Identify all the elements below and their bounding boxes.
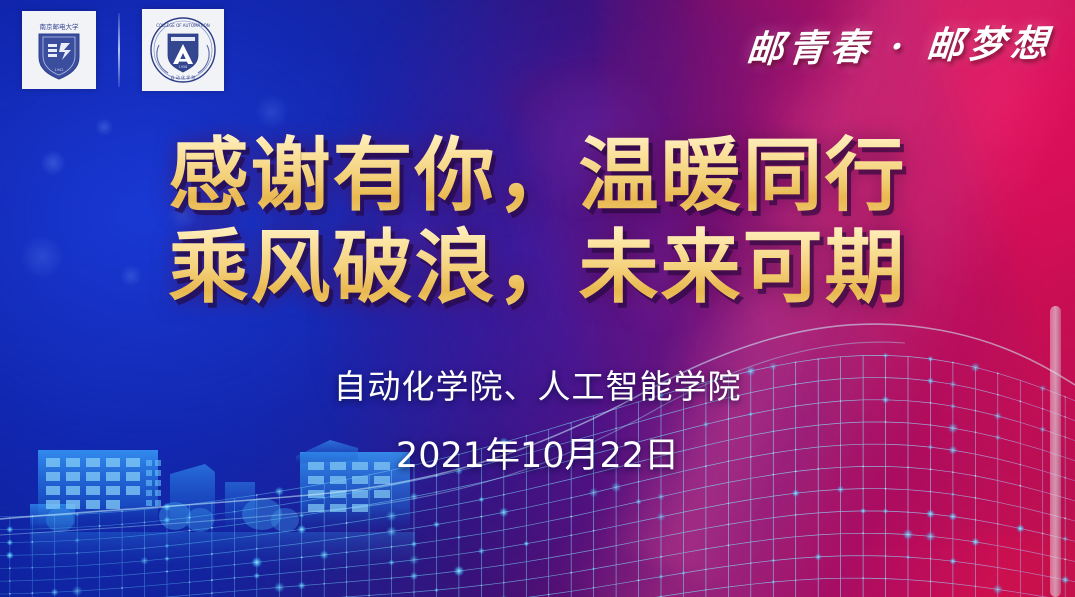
logo-bar: 南京邮电大学 1942 COLLEGE OF AUTOMATION	[22, 9, 224, 91]
subtitle-organization: 自动化学院、人工智能学院	[0, 360, 1075, 408]
vertical-scrollbar[interactable]	[1050, 306, 1061, 597]
svg-text:1942: 1942	[54, 68, 63, 72]
title-line-2: 乘风破浪，未来可期	[0, 225, 1075, 311]
slogan-calligraphy: 邮青春 · 邮梦想	[745, 13, 1056, 73]
main-title: 感谢有你，温暖同行 乘风破浪，未来可期	[0, 133, 1075, 312]
logo-divider	[118, 13, 120, 87]
college-circular-emblem: COLLEGE OF AUTOMATION 自 动 化 学 院 1958	[142, 9, 224, 91]
subtitle-block: 自动化学院、人工智能学院 2021年10月22日	[0, 360, 1075, 478]
svg-text:1958: 1958	[179, 65, 188, 69]
title-line-1: 感谢有你，温暖同行	[0, 133, 1075, 219]
svg-text:COLLEGE OF AUTOMATION: COLLEGE OF AUTOMATION	[156, 23, 209, 28]
svg-text:自 动 化 学 院: 自 动 化 学 院	[170, 74, 195, 80]
event-banner: 南京邮电大学 1942 COLLEGE OF AUTOMATION	[0, 0, 1075, 597]
university-shield-logo: 南京邮电大学 1942	[22, 11, 96, 89]
svg-text:南京邮电大学: 南京邮电大学	[40, 22, 80, 31]
subtitle-date: 2021年10月22日	[0, 427, 1075, 478]
